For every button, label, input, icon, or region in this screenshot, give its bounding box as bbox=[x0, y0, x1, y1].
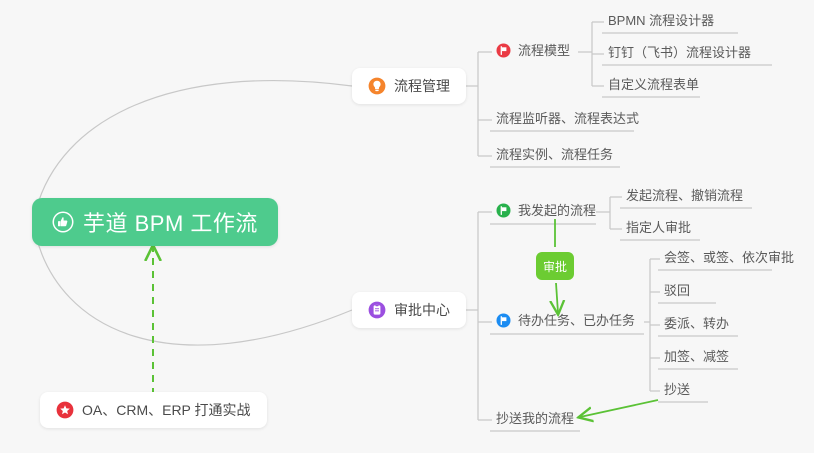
node-carbon-copy[interactable]: 抄送 bbox=[658, 380, 696, 402]
root-node[interactable]: 芋道 BPM 工作流 bbox=[32, 198, 278, 246]
node-todo-done-task[interactable]: 待办任务、已办任务 bbox=[490, 311, 641, 333]
node-label: 会签、或签、依次审批 bbox=[664, 251, 794, 264]
carbon-copy-arrow bbox=[580, 400, 658, 417]
node-bpmn-designer[interactable]: BPMN 流程设计器 bbox=[602, 11, 720, 33]
flag-icon bbox=[496, 313, 511, 328]
mindmap-canvas: 芋道 BPM 工作流 流程管理 审批中心 bbox=[0, 0, 814, 453]
branch-label: 审批中心 bbox=[394, 300, 450, 320]
node-add-remove-sign[interactable]: 加签、减签 bbox=[658, 347, 735, 369]
node-start-cancel-process[interactable]: 发起流程、撤销流程 bbox=[620, 186, 749, 208]
node-label: 钉钉（飞书）流程设计器 bbox=[608, 46, 751, 59]
node-label: 流程监听器、流程表达式 bbox=[496, 112, 639, 125]
node-dingtalk-feishu-designer[interactable]: 钉钉（飞书）流程设计器 bbox=[602, 43, 757, 65]
node-label: 流程实例、流程任务 bbox=[496, 148, 613, 161]
node-cc-to-me-process[interactable]: 抄送我的流程 bbox=[490, 409, 580, 431]
node-label: OA、CRM、ERP 打通实战 bbox=[82, 400, 251, 420]
node-process-instance-task[interactable]: 流程实例、流程任务 bbox=[490, 145, 619, 167]
node-label: BPMN 流程设计器 bbox=[608, 14, 714, 27]
node-process-listener-expression[interactable]: 流程监听器、流程表达式 bbox=[490, 109, 645, 131]
branch-label: 流程管理 bbox=[394, 76, 450, 96]
approval-tag[interactable]: 审批 bbox=[536, 252, 574, 280]
node-label: 加签、减签 bbox=[664, 350, 729, 363]
link-root-to-process-management bbox=[36, 81, 352, 210]
node-label: 抄送 bbox=[664, 383, 690, 396]
node-label: 待办任务、已办任务 bbox=[518, 314, 635, 327]
link-root-to-approval-center bbox=[36, 236, 352, 345]
branch-process-management[interactable]: 流程管理 bbox=[352, 68, 466, 104]
node-reject[interactable]: 驳回 bbox=[658, 281, 696, 303]
node-process-model[interactable]: 流程模型 bbox=[490, 41, 576, 63]
node-countersign-or-sequential[interactable]: 会签、或签、依次审批 bbox=[658, 248, 800, 270]
node-delegate-transfer[interactable]: 委派、转办 bbox=[658, 314, 735, 336]
node-custom-process-form[interactable]: 自定义流程表单 bbox=[602, 75, 705, 97]
root-label: 芋道 BPM 工作流 bbox=[83, 206, 258, 238]
approval-flow-arrow-lower bbox=[556, 283, 558, 313]
flag-icon bbox=[496, 43, 511, 58]
node-label: 指定人审批 bbox=[626, 221, 691, 234]
node-label: 抄送我的流程 bbox=[496, 412, 574, 425]
node-integration-practice[interactable]: OA、CRM、ERP 打通实战 bbox=[40, 392, 267, 428]
lightbulb-pin-icon bbox=[368, 77, 386, 95]
star-icon bbox=[56, 401, 74, 419]
flag-icon bbox=[496, 203, 511, 218]
node-assignee-approval[interactable]: 指定人审批 bbox=[620, 218, 697, 240]
approval-tag-label: 审批 bbox=[543, 258, 567, 275]
node-label: 发起流程、撤销流程 bbox=[626, 189, 743, 202]
clipboard-icon bbox=[368, 301, 386, 319]
node-label: 我发起的流程 bbox=[518, 204, 596, 217]
node-label: 流程模型 bbox=[518, 44, 570, 57]
node-my-initiated-process[interactable]: 我发起的流程 bbox=[490, 201, 602, 223]
node-label: 自定义流程表单 bbox=[608, 78, 699, 91]
node-label: 驳回 bbox=[664, 284, 690, 297]
node-label: 委派、转办 bbox=[664, 317, 729, 330]
branch-approval-center[interactable]: 审批中心 bbox=[352, 292, 466, 328]
thumbs-up-icon bbox=[52, 211, 74, 233]
